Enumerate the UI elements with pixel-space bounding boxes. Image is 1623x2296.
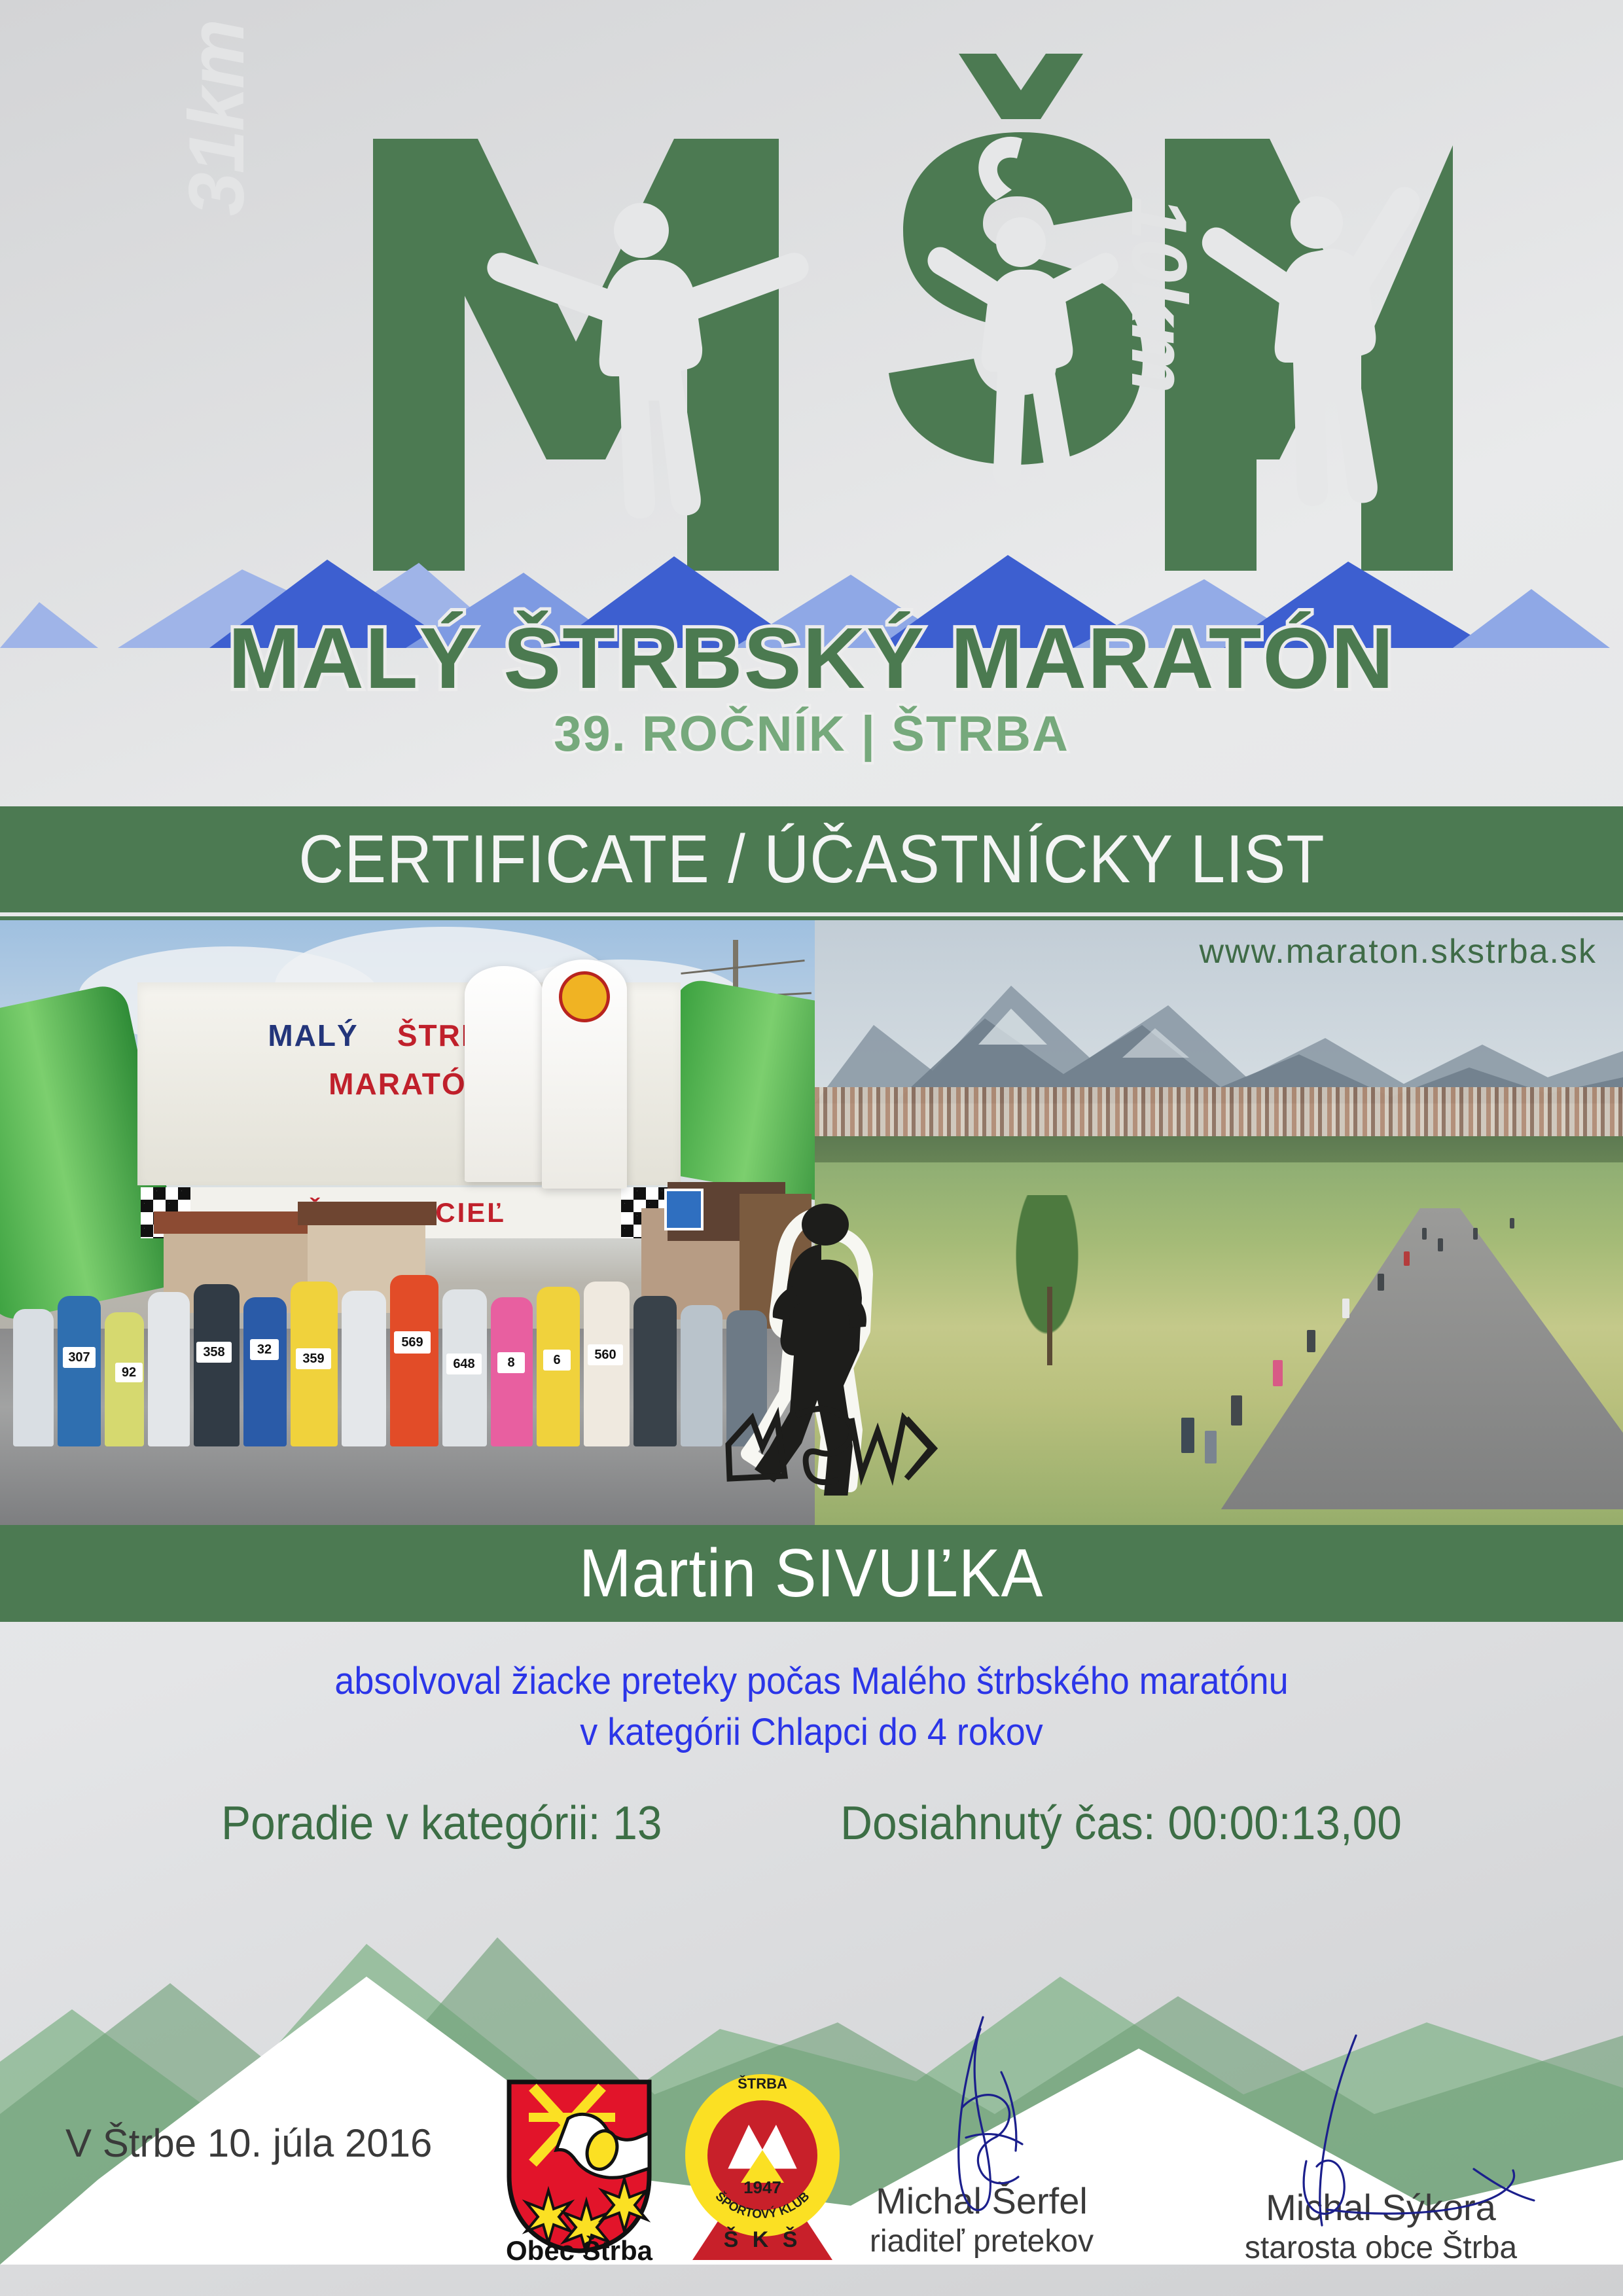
runner-pack: 307 358 32 359 569 648 8 6 560 92 [0,1230,815,1446]
participant-name: Martin SIVUĽKA [579,1535,1043,1613]
runner-distant [1422,1228,1427,1240]
runner [681,1305,722,1446]
runner [194,1284,240,1446]
msm-runner-badge-icon [723,1188,939,1496]
finish-time: Dosiahnutý čas: 00:00:13,00 [840,1797,1402,1850]
bib-number: 359 [296,1348,331,1369]
runner-distant [1510,1218,1514,1229]
description-block: absolvoval žiacke preteky počas Malého š… [57,1656,1566,1758]
signature-name: Michal Šerfel [811,2179,1152,2222]
runner-distant [1342,1299,1349,1318]
event-subtitle: 39. ROČNÍK | ŠTRBA [0,706,1623,762]
certificate-title: CERTIFICATE / ÚČASTNÍCKY LIST [298,821,1325,899]
certificate-title-band: CERTIFICATE / ÚČASTNÍCKY LIST [0,806,1623,912]
bib-number: 6 [543,1350,571,1371]
runner-distant [1273,1360,1283,1386]
runner-distant [1404,1251,1410,1266]
roof [298,1202,437,1225]
runner [13,1309,54,1446]
bib-number: 569 [394,1331,431,1354]
distance-10km-label: 10km [1114,196,1204,392]
runner-distant [1307,1330,1315,1352]
runner [58,1296,101,1446]
bib-number: 358 [196,1342,232,1363]
signature-role: starosta obce Štrba [1178,2230,1584,2266]
place-and-date: V Štrbe 10. júla 2016 [65,2121,432,2166]
signature-block-director: Michal Šerfel riaditeľ pretekov [811,2179,1152,2259]
bib-number: 8 [497,1352,525,1373]
sponsor-flag [542,960,627,1189]
participant-name-band: Martin SIVUĽKA [0,1525,1623,1622]
runner-distant [1231,1395,1242,1426]
runner-distant [1378,1274,1384,1291]
event-title: MALÝ ŠTRBSKÝ MARATÓN [0,609,1623,708]
description-line-2: v kategórii Chlapci do 4 rokov [57,1707,1566,1758]
msm-wordmark [170,34,1453,571]
signature-name: Michal Sýkora [1178,2186,1584,2229]
runner [148,1292,190,1446]
sponsor-emblem [559,971,610,1022]
road-sign [664,1189,704,1230]
runner [342,1291,386,1446]
runner-distant [1438,1238,1443,1251]
bib-number: 560 [588,1344,623,1365]
msm-letters-svg [170,34,1453,571]
arch-word-maly: MALÝ [268,1018,358,1052]
runner [390,1275,438,1446]
category-rank: Poradie v kategórii: 13 [221,1797,662,1850]
website-url: www.maraton.skstrba.sk [1200,932,1597,971]
logo-header: 31km 10km MALÝ ŠTRBSKÝ MARATÓN 39. ROČNÍ… [0,0,1623,795]
description-line-1: absolvoval žiacke preteky počas Malého š… [57,1656,1566,1707]
certificate-page: 31km 10km MALÝ ŠTRBSKÝ MARATÓN 39. ROČNÍ… [0,0,1623,2296]
club-top-text: ŠTRBA [738,2075,787,2092]
bib-number: 648 [446,1354,482,1374]
signature-role: riaditeľ pretekov [811,2223,1152,2259]
runner-distant [1473,1228,1478,1240]
sponsor-flag [465,966,543,1182]
bib-number: 92 [115,1363,143,1382]
results-row: Poradie v kategórii: 13 Dosiahnutý čas: … [48,1797,1574,1850]
club-abbr-text: Š K Š [724,2227,802,2252]
bib-number: 307 [63,1347,96,1368]
tree-trunk [1047,1287,1052,1365]
spectator [1205,1431,1217,1463]
bib-number: 32 [250,1339,279,1360]
runner [633,1296,677,1446]
runner [243,1297,287,1446]
club-year-text: 1947 [743,2178,781,2197]
signature-block-mayor: Michal Sýkora starosta obce Štrba [1178,2186,1584,2266]
spectator [1181,1418,1194,1453]
distance-31km-label: 31km [171,20,262,216]
obec-strba-crest-icon [504,2078,654,2255]
photo-start-line: MALÝ ŠTRBSKÝ MARATÓN ŠTART - CIEĽ [0,920,815,1525]
municipality-label: Obec Štrba [488,2235,671,2267]
